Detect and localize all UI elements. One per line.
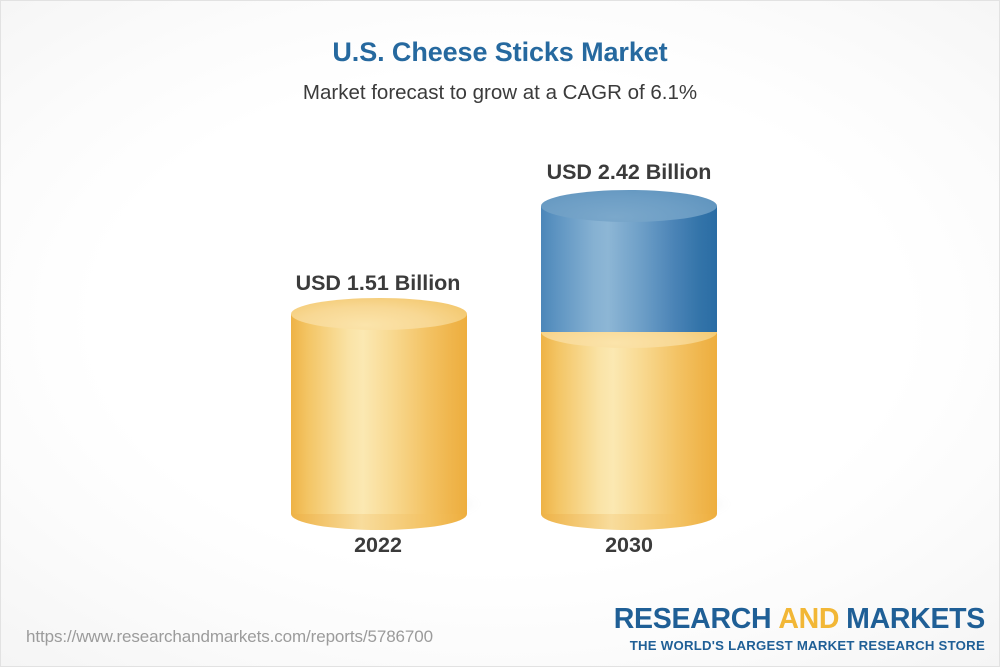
researchandmarkets-logo[interactable]: RESEARCHANDMARKETS THE WORLD'S LARGEST M… xyxy=(614,605,985,652)
plot-area: USD 1.51 Billion 2022 USD 2.42 Billion xyxy=(1,1,999,666)
logo-tagline: THE WORLD'S LARGEST MARKET RESEARCH STOR… xyxy=(614,639,985,652)
source-url[interactable]: https://www.researchandmarkets.com/repor… xyxy=(26,627,433,647)
bar-segment-base-fill-2030 xyxy=(541,332,717,514)
bar-value-label-2030: USD 2.42 Billion xyxy=(459,160,799,185)
chart-page: U.S. Cheese Sticks Market Market forecas… xyxy=(0,0,1000,667)
logo-wordmark: RESEARCHANDMARKETS xyxy=(614,605,985,634)
logo-word-research: RESEARCH xyxy=(614,603,772,635)
logo-word-markets: MARKETS xyxy=(846,603,985,635)
bar-body-fill-2022 xyxy=(291,314,467,514)
bar-segment-growth-fill-2030 xyxy=(541,206,717,332)
bar-category-label-2030: 2030 xyxy=(459,533,799,558)
bar-segment-growth-2030 xyxy=(541,206,717,332)
bar-top-cap-2030 xyxy=(541,190,717,222)
logo-word-and: AND xyxy=(778,603,839,635)
bar-top-cap-2022 xyxy=(291,298,467,330)
bar-cylinder-2022[interactable] xyxy=(291,314,467,514)
bar-body-2022 xyxy=(291,314,467,514)
bar-segment-base-2030 xyxy=(541,332,717,514)
bar-value-label-2022: USD 1.51 Billion xyxy=(208,271,548,296)
bar-cylinder-2030[interactable] xyxy=(541,206,717,514)
